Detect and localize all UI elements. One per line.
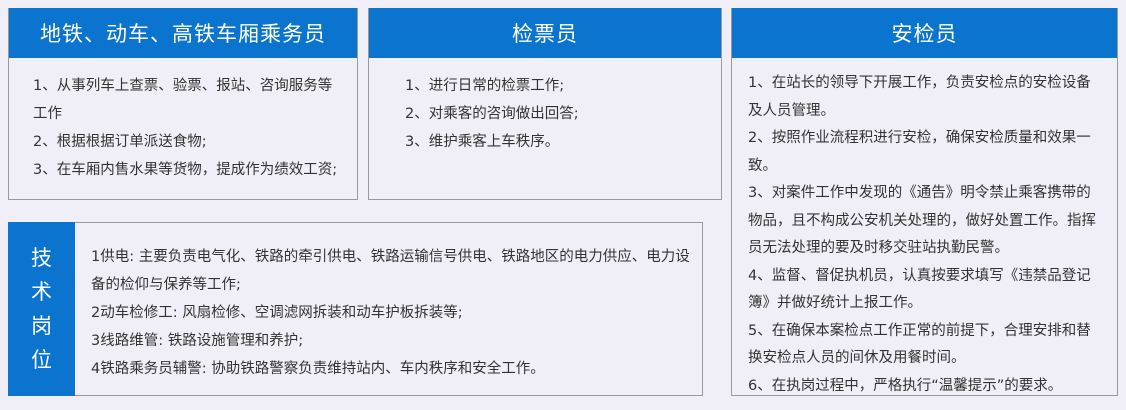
duty-line: 5、在确保本案检点工作正常的前提下，合理安排和替换安检点人员的间休及用餐时间。 bbox=[748, 318, 1105, 373]
card-technical-positions: 技 术 岗 位 1供电: 主要负责电气化、铁路的牵引供电、铁路运输信号供电、铁路… bbox=[8, 222, 703, 396]
duty-line: 3、在车厢内售水果等货物，提成作为绩效工资; bbox=[33, 156, 341, 184]
duty-line: 4铁路乘务员辅警: 协助铁路警察负责维持站内、车内秩序和安全工作。 bbox=[91, 355, 690, 383]
duty-line: 2动车检修工: 风扇检修、空调滤网拆装和动车护板拆装等; bbox=[91, 299, 690, 327]
card-security-inspector-body: 1、在站长的领导下开展工作，负责安检点的安检设备及人员管理。 2、按照作业流程积… bbox=[732, 58, 1117, 410]
duty-line: 4、监督、督促执机员，认真按要求填写《违禁品登记簿》并做好统计上报工作。 bbox=[748, 263, 1105, 318]
card-technical-positions-body: 1供电: 主要负责电气化、铁路的牵引供电、铁路运输信号供电、铁路地区的电力供应、… bbox=[75, 223, 702, 395]
title-char: 术 bbox=[31, 275, 52, 309]
card-ticket-inspector: 检票员 1、进行日常的检票工作; 2、对乘客的咨询做出回答; 3、维护乘客上车秩… bbox=[368, 8, 722, 200]
duty-line: 3线路维管: 铁路设施管理和养护; bbox=[91, 327, 690, 355]
card-train-crew: 地铁、动车、高铁车厢乘务员 1、从事列车上查票、验票、报站、咨询服务等工作 2、… bbox=[8, 8, 358, 200]
title-char: 位 bbox=[31, 343, 52, 377]
duty-line: 2、按照作业流程积进行安检，确保安检质量和效果一致。 bbox=[748, 125, 1105, 180]
title-char: 岗 bbox=[31, 309, 52, 343]
duty-line: 1、在站长的领导下开展工作，负责安检点的安检设备及人员管理。 bbox=[748, 70, 1105, 125]
title-char: 技 bbox=[31, 241, 52, 275]
duty-line: 1供电: 主要负责电气化、铁路的牵引供电、铁路运输信号供电、铁路地区的电力供应、… bbox=[91, 243, 690, 299]
duty-line: 1、从事列车上查票、验票、报站、咨询服务等工作 bbox=[33, 72, 341, 128]
card-security-inspector-title: 安检员 bbox=[732, 8, 1117, 58]
duty-line: 2、根据根据订单派送食物; bbox=[33, 128, 341, 156]
duty-line: 2、对乘客的咨询做出回答; bbox=[405, 100, 703, 128]
card-train-crew-body: 1、从事列车上查票、验票、报站、咨询服务等工作 2、根据根据订单派送食物; 3、… bbox=[9, 58, 357, 194]
duty-line: 1、进行日常的检票工作; bbox=[405, 72, 703, 100]
poster-stage: 地铁、动车、高铁车厢乘务员 1、从事列车上查票、验票、报站、咨询服务等工作 2、… bbox=[0, 0, 1126, 404]
duty-line: 3、对案件工作中发现的《通告》明令禁止乘客携带的物品，且不构成公安机关处理的，做… bbox=[748, 180, 1105, 263]
card-technical-positions-title: 技 术 岗 位 bbox=[8, 222, 75, 396]
card-train-crew-title: 地铁、动车、高铁车厢乘务员 bbox=[9, 8, 357, 58]
duty-line: 6、在执岗过程中，严格执行“温馨提示”的要求。 bbox=[748, 373, 1105, 401]
card-ticket-inspector-title: 检票员 bbox=[369, 8, 721, 58]
card-ticket-inspector-body: 1、进行日常的检票工作; 2、对乘客的咨询做出回答; 3、维护乘客上车秩序。 bbox=[369, 58, 721, 166]
card-security-inspector: 安检员 1、在站长的领导下开展工作，负责安检点的安检设备及人员管理。 2、按照作… bbox=[731, 8, 1118, 396]
duty-line: 3、维护乘客上车秩序。 bbox=[405, 128, 703, 156]
